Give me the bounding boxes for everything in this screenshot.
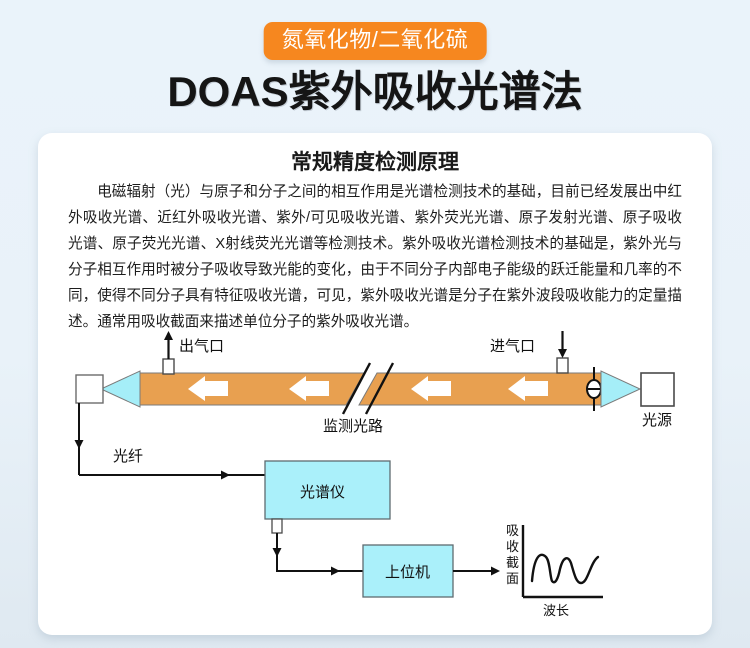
measurement-tube-left xyxy=(140,373,364,405)
gas-outlet-port xyxy=(163,333,174,374)
measurement-tube-right xyxy=(359,373,601,405)
chart-ylabel-c4: 面 xyxy=(506,571,519,586)
absorption-chart xyxy=(523,525,603,597)
body-paragraph: 电磁辐射（光）与原子和分子之间的相互作用是光谱检测技术的基础，目前已经发展出中红… xyxy=(68,179,682,335)
chart-ylabel-c3: 截 xyxy=(506,555,519,570)
light-source-label: 光源 xyxy=(642,412,672,429)
chart-ylabel-c1: 吸 xyxy=(506,523,519,538)
gas-outlet-label: 出气口 xyxy=(179,338,224,355)
page-wrapper: 氮氧化物/二氧化硫 DOAS紫外吸收光谱法 常规精度检测原理 电磁辐射（光）与原… xyxy=(0,0,750,648)
optical-path-label: 监测光路 xyxy=(323,418,383,435)
page-title: DOAS紫外吸收光谱法 xyxy=(0,68,750,116)
category-badge: 氮氧化物/二氧化硫 xyxy=(264,22,487,60)
optical-fiber-path xyxy=(79,403,265,475)
chart-xlabel: 波长 xyxy=(543,603,569,618)
detector-head xyxy=(76,371,140,407)
doas-system-diagram: 出气口 进气口 监测光路 xyxy=(38,329,712,629)
host-computer-label: 上位机 xyxy=(385,564,430,581)
spectrometer-label: 光谱仪 xyxy=(300,484,345,501)
gas-inlet-port xyxy=(557,331,568,373)
light-source-unit xyxy=(601,371,674,407)
optical-fiber-label: 光纤 xyxy=(113,448,143,465)
gas-inlet-label: 进气口 xyxy=(490,338,535,355)
spectrometer-to-host-path xyxy=(277,533,363,571)
chart-ylabel: 吸 收 截 面 xyxy=(506,523,519,586)
section-title: 常规精度检测原理 xyxy=(38,146,712,176)
content-card: 常规精度检测原理 电磁辐射（光）与原子和分子之间的相互作用是光谱检测技术的基础，… xyxy=(38,133,712,635)
chart-ylabel-c2: 收 xyxy=(506,539,519,554)
spectrometer-connector xyxy=(272,519,282,533)
